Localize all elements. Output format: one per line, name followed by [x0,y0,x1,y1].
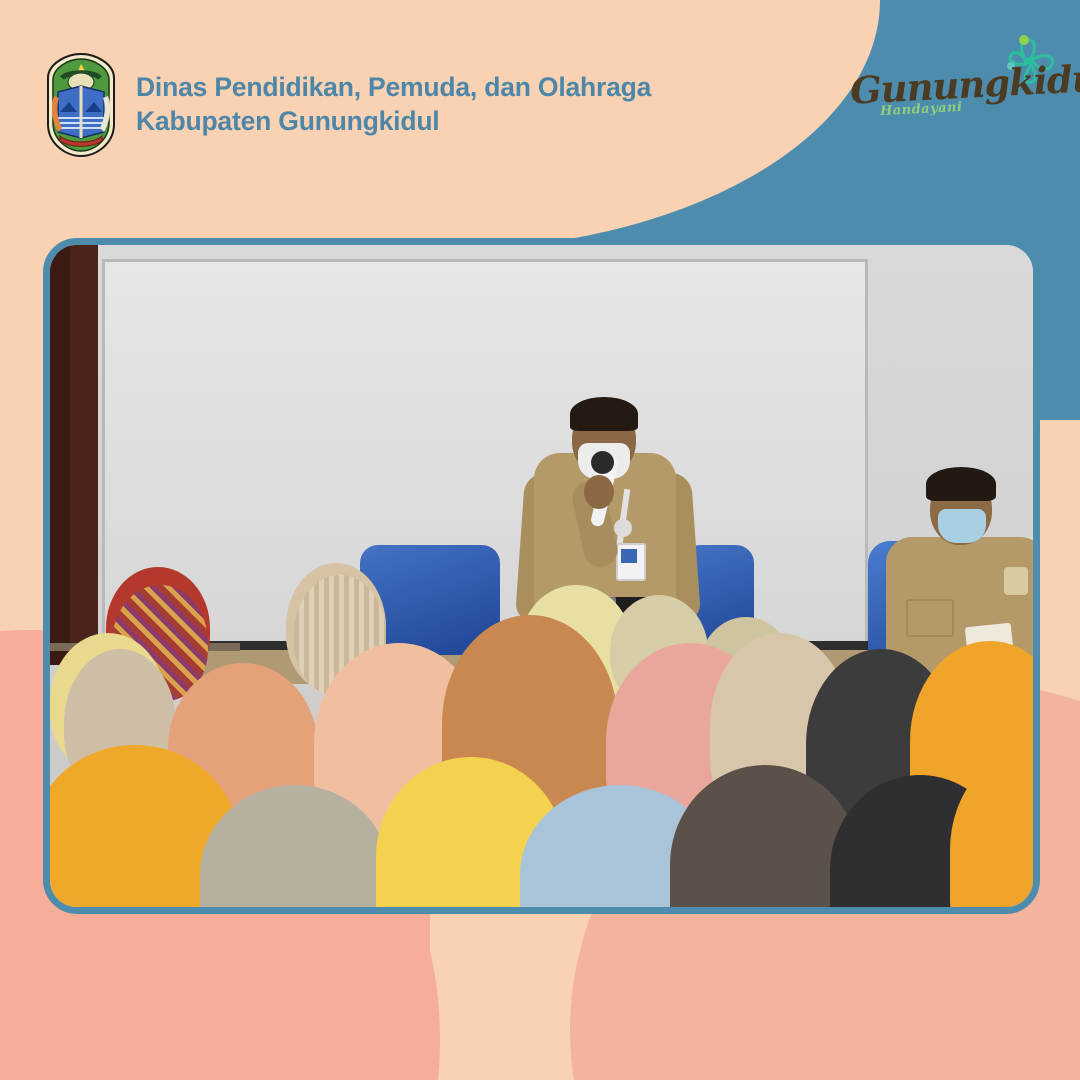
speaker-hand [584,475,614,509]
gunungkidul-brand-logo: Gunungkidul Handayani [836,26,1066,136]
speaker-lanyard-clip [614,519,632,537]
event-photo-frame [43,238,1040,914]
speaker-hair [570,397,638,431]
page-title: Dinas Pendidikan, Pemuda, dan Olahraga K… [136,70,651,139]
microphone-head [591,451,614,474]
brand-tagline: Handayani [880,100,963,119]
poster-canvas: Dinas Pendidikan, Pemuda, dan Olahraga K… [0,0,1080,1080]
seated-officer-hair [926,467,996,501]
seated-officer-emblem [1004,567,1028,595]
poster-footer: @dikpora_gk pendidikan.gunungkidulkab.go… [0,940,1080,1080]
wall-dark-edge [50,245,70,665]
seated-officer-pocket [906,599,954,637]
event-photo [50,245,1033,907]
seated-officer-face-mask [938,509,986,543]
poster-header: Dinas Pendidikan, Pemuda, dan Olahraga K… [0,0,760,180]
gunungkidul-coat-of-arms-icon [44,52,118,158]
speaker-id-badge-photo [621,549,637,563]
